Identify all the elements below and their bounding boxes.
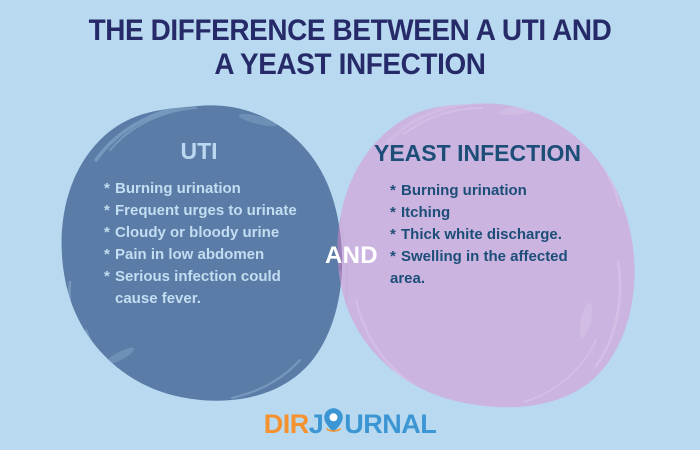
yeast-symptom-list: *Burning urination *Itching *Thick white… xyxy=(372,180,622,290)
uti-heading: UTI xyxy=(92,138,332,164)
list-item: *Serious infection could xyxy=(104,266,332,288)
list-item: *Cloudy or bloody urine xyxy=(104,222,332,244)
bullet-star-icon: * xyxy=(104,266,115,288)
title-line-2: A YEAST INFECTION xyxy=(25,48,676,82)
bullet-star-icon: * xyxy=(104,244,115,266)
overlap-and-label: AND xyxy=(325,243,378,269)
list-item: *Burning urination xyxy=(104,178,332,200)
list-item-label: cause fever. xyxy=(115,290,201,307)
list-item-label: Serious infection could xyxy=(115,268,281,285)
bullet-star-icon: * xyxy=(390,202,401,224)
title-line-1: THE DIFFERENCE BETWEEN A UTI AND xyxy=(25,14,676,48)
list-item-label: Itching xyxy=(401,204,450,221)
list-item: *Itching xyxy=(390,202,622,224)
logo-text-urnal: URNAL xyxy=(344,409,436,439)
infographic-canvas: THE DIFFERENCE BETWEEN A UTI AND A YEAST… xyxy=(0,0,700,450)
yeast-heading: YEAST INFECTION xyxy=(372,140,622,166)
bullet-star-icon: * xyxy=(104,222,115,244)
uti-symptom-list: *Burning urination *Frequent urges to ur… xyxy=(92,178,332,310)
list-item-label: area. xyxy=(390,270,425,287)
list-item: *Frequent urges to urinate xyxy=(104,200,332,222)
list-item-label: Thick white discharge. xyxy=(401,226,562,243)
page-title: THE DIFFERENCE BETWEEN A UTI AND A YEAST… xyxy=(0,14,700,82)
bullet-star-icon: * xyxy=(390,180,401,202)
dirjournal-logo[interactable]: DIRJURNAL xyxy=(0,408,700,440)
uti-panel: UTI *Burning urination *Frequent urges t… xyxy=(92,138,332,310)
list-item: *Burning urination xyxy=(390,180,622,202)
list-item: *Pain in low abdomen xyxy=(104,244,332,266)
list-item-label: Burning urination xyxy=(401,182,527,199)
logo-text-j: J xyxy=(309,409,324,439)
list-item-label: Pain in low abdomen xyxy=(115,246,264,263)
list-item-label: Burning urination xyxy=(115,180,241,197)
list-item-label: Frequent urges to urinate xyxy=(115,202,297,219)
yeast-panel: YEAST INFECTION *Burning urination *Itch… xyxy=(372,140,622,290)
logo-text-dir: DIR xyxy=(264,409,309,439)
list-item-label: Swelling in the affected xyxy=(401,248,568,265)
list-item: *Thick white discharge. xyxy=(390,224,622,246)
list-item-label: Cloudy or bloody urine xyxy=(115,224,279,241)
list-item-continuation: area. xyxy=(390,268,622,290)
bullet-star-icon: * xyxy=(104,178,115,200)
bullet-star-icon: * xyxy=(390,246,401,268)
list-item: *Swelling in the affected xyxy=(390,246,622,268)
bullet-star-icon: * xyxy=(390,224,401,246)
list-item-continuation: cause fever. xyxy=(104,288,332,310)
map-pin-icon xyxy=(323,407,344,439)
bullet-star-icon: * xyxy=(104,200,115,222)
